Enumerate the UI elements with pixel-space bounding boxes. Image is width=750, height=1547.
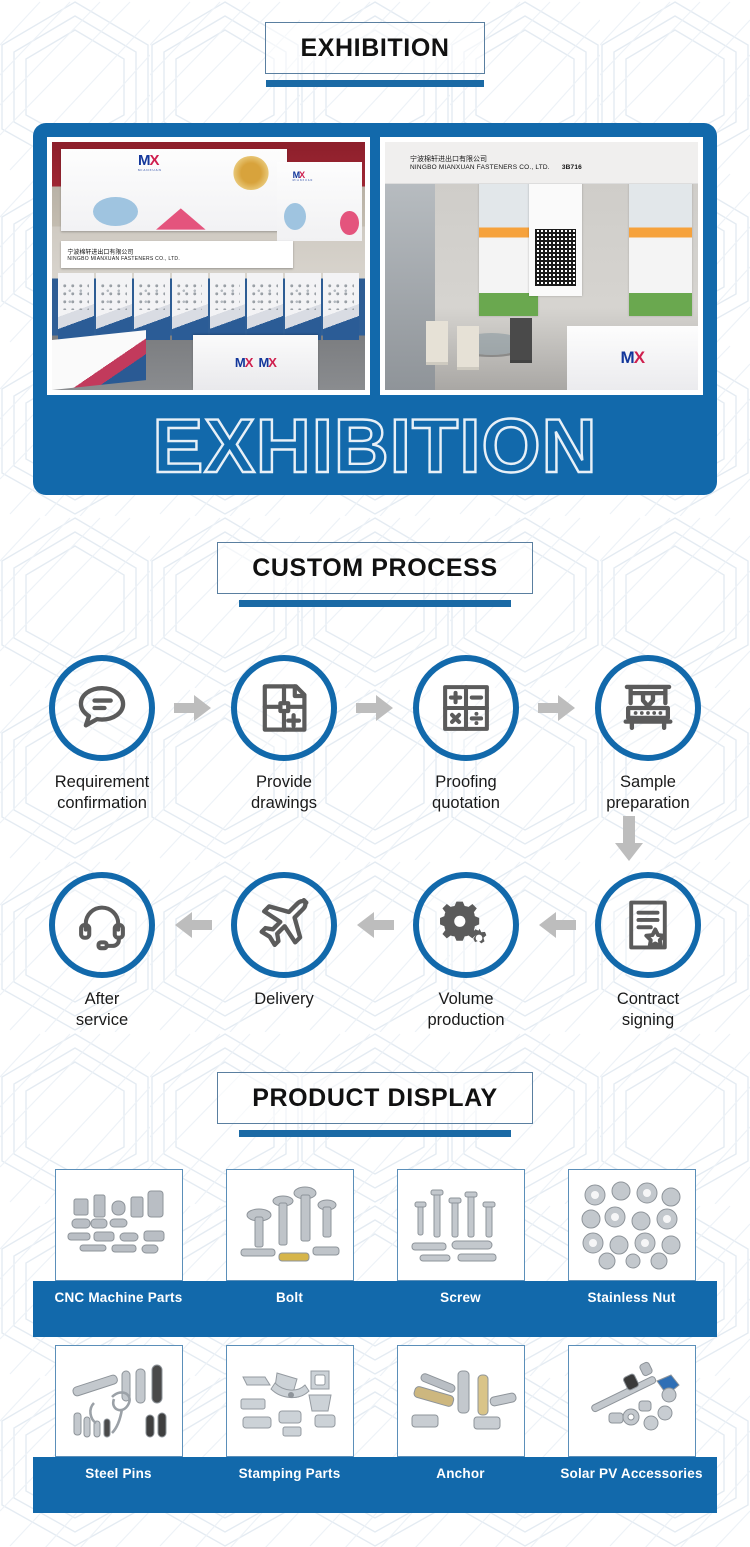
process-title-box: CUSTOM PROCESS (217, 542, 532, 594)
process-step-label: Contract signing (579, 989, 717, 1032)
arrow-right-icon (171, 655, 215, 761)
process-step-delivery[interactable]: Delivery (215, 872, 353, 1010)
product-label: Anchor (375, 1466, 546, 1481)
products-title-box: PRODUCT DISPLAY (217, 1072, 533, 1124)
blueprint-drawing-icon (254, 678, 314, 738)
process-section-heading: CUSTOM PROCESS (0, 542, 750, 607)
product-label: Steel Pins (33, 1466, 204, 1481)
arrow-right-icon (353, 655, 397, 761)
process-step-provide-drawings[interactable]: Provide drawings (215, 655, 353, 815)
product-image-solar-pv-accessories (568, 1345, 696, 1457)
photo2-company-en: NINGBO MIANXUAN FASTENERS CO., LTD. (410, 164, 550, 171)
photo2-qr-banner (529, 172, 582, 296)
process-step-label: Sample preparation (579, 772, 717, 815)
process-title: CUSTOM PROCESS (252, 554, 497, 582)
headset-icon (73, 896, 131, 954)
product-image-screw (397, 1169, 525, 1281)
exhibition-wordmark: EXHIBITION (33, 403, 717, 491)
product-image-anchor (397, 1345, 525, 1457)
product-card-bolt[interactable]: Bolt (204, 1169, 375, 1305)
process-step-sample-preparation[interactable]: Sample preparation (579, 655, 717, 815)
exhibition-title: EXHIBITION (300, 34, 449, 62)
photo2-booth-number: 3B716 (562, 164, 582, 171)
airplane-icon (253, 894, 315, 956)
qr-code-icon (535, 229, 575, 286)
process-step-requirement-confirmation[interactable]: Requirement confirmation (33, 655, 171, 815)
product-card-stainless-nut[interactable]: Stainless Nut (546, 1169, 717, 1305)
product-image-bolt (226, 1169, 354, 1281)
product-card-steel-pins[interactable]: Steel Pins (33, 1345, 204, 1481)
arrow-down-icon (614, 816, 644, 867)
product-label: CNC Machine Parts (33, 1290, 204, 1305)
process-step-label: After service (33, 989, 171, 1032)
product-card-anchor[interactable]: Anchor (375, 1345, 546, 1481)
product-card-cnc-machine-parts[interactable]: CNC Machine Parts (33, 1169, 204, 1305)
exhibition-title-rule (266, 80, 484, 87)
product-label: Stainless Nut (546, 1290, 717, 1305)
products-title: PRODUCT DISPLAY (252, 1084, 498, 1112)
exhibition-section-heading: EXHIBITION (0, 22, 750, 87)
process-step-contract-signing[interactable]: Contract signing (579, 872, 717, 1032)
exhibition-photo-booth-wide[interactable]: MX MIANXUAN MX MIANXUAN (47, 137, 370, 395)
product-card-screw[interactable]: Screw (375, 1169, 546, 1305)
product-label: Solar PV Accessories (546, 1466, 717, 1481)
photo2-company-cn: 宁波棉轩进出口有限公司 (410, 154, 698, 164)
process-step-label: Proofing quotation (397, 772, 535, 815)
exhibition-photo-booth-interior[interactable]: MX 宁波棉轩进出口有限公司 NINGBO MIANXUAN FASTENERS… (380, 137, 703, 395)
arrow-left-icon (535, 872, 579, 978)
photo1-company-en: NINGBO MIANXUAN FASTENERS CO., LTD. (67, 256, 293, 262)
product-image-cnc-machine-parts (55, 1169, 183, 1281)
product-row-2: Steel Pins Stamping Parts (33, 1345, 717, 1481)
photo2-company-header: 宁波棉轩进出口有限公司 NINGBO MIANXUAN FASTENERS CO… (385, 142, 698, 184)
photo1-company-cn: 宁波棉轩进出口有限公司 (67, 247, 293, 256)
exhibition-wordmark-text: EXHIBITION (153, 409, 598, 485)
product-card-stamping-parts[interactable]: Stamping Parts (204, 1345, 375, 1481)
process-step-label: Volume production (397, 989, 535, 1032)
arrow-left-icon (353, 872, 397, 978)
process-flow-row-1: Requirement confirmation Provide drawing… (0, 655, 750, 815)
contract-document-icon (620, 897, 676, 953)
process-step-proofing-quotation[interactable]: Proofing quotation (397, 655, 535, 815)
process-step-after-service[interactable]: After service (33, 872, 171, 1032)
process-step-label: Requirement confirmation (33, 772, 171, 815)
exhibition-photo-row: MX MIANXUAN MX MIANXUAN (47, 137, 703, 395)
product-image-stainless-nut (568, 1169, 696, 1281)
photo1-company-strip: 宁波棉轩进出口有限公司 NINGBO MIANXUAN FASTENERS CO… (61, 241, 293, 268)
process-flow-row-2: After service Delivery (0, 872, 750, 1032)
products-title-rule (239, 1130, 511, 1137)
calculator-icon (437, 679, 495, 737)
exhibition-banner: MX MIANXUAN MX MIANXUAN (33, 123, 717, 495)
process-title-rule (239, 600, 511, 607)
product-row-1: CNC Machine Parts Bolt (33, 1169, 717, 1305)
product-label: Bolt (204, 1290, 375, 1305)
process-step-label: Delivery (215, 989, 353, 1010)
exhibition-title-box: EXHIBITION (265, 22, 484, 74)
arrow-right-icon (535, 655, 579, 761)
product-card-solar-pv-accessories[interactable]: Solar PV Accessories (546, 1345, 717, 1481)
process-step-label: Provide drawings (215, 772, 353, 815)
product-image-steel-pins (55, 1345, 183, 1457)
product-label: Screw (375, 1290, 546, 1305)
product-label: Stamping Parts (204, 1466, 375, 1481)
chat-bubble-icon (71, 677, 133, 739)
product-image-stamping-parts (226, 1345, 354, 1457)
arrow-left-icon (171, 872, 215, 978)
photo2-company-en-row: NINGBO MIANXUAN FASTENERS CO., LTD. 3B71… (410, 164, 698, 171)
products-section-heading: PRODUCT DISPLAY (0, 1072, 750, 1137)
process-step-volume-production[interactable]: Volume production (397, 872, 535, 1032)
cnc-machine-icon (617, 677, 679, 739)
gears-icon (435, 894, 497, 956)
